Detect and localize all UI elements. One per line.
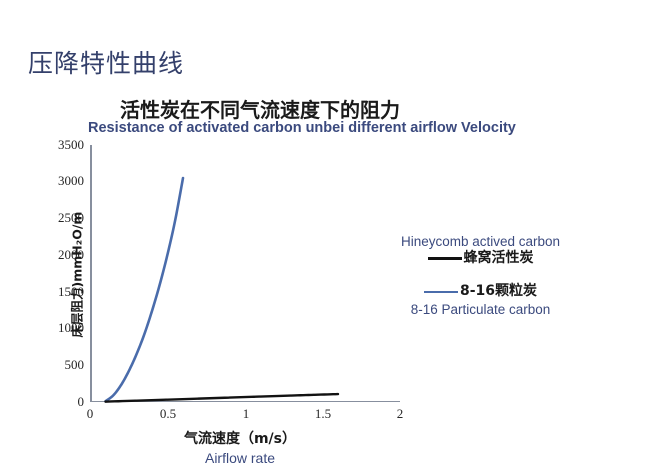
legend-caption-particulate: 8-16 Particulate carbon: [368, 301, 593, 318]
legend-label-particulate: 8-16颗粒炭: [460, 283, 537, 300]
plot-area: [90, 145, 400, 402]
legend-caption-honeycomb: Hineycomb actived carbon: [368, 233, 593, 250]
legend-swatch-blue-line-icon: [424, 291, 458, 293]
chart-title-chinese: 活性炭在不同气流速度下的阻力: [120, 94, 540, 123]
x-tick-0: 0: [87, 406, 94, 422]
chart-legend: Hineycomb actived carbon 蜂窝活性炭 8-16颗粒炭 8…: [368, 233, 593, 328]
x-axis-title-english: Airflow rate: [120, 450, 360, 466]
page-title: 压降特性曲线: [28, 44, 184, 80]
x-axis-title-chinese: 气流速度（m/s）: [120, 428, 360, 448]
series-curves: [90, 145, 400, 402]
legend-item-honeycomb: 蜂窝活性炭: [368, 250, 593, 267]
legend-swatch-black-line-icon: [428, 257, 462, 260]
series-line-particulate-carbon: [106, 178, 184, 401]
x-tick-1: 1: [243, 406, 250, 422]
x-tick-2: 2: [397, 406, 404, 422]
x-tick-0.5: 0.5: [160, 406, 176, 422]
chart-container: 活性炭在不同气流速度下的阻力 Resistance of activated c…: [0, 88, 653, 428]
chart-title-english: Resistance of activated carbon unbei dif…: [88, 120, 558, 136]
legend-label-honeycomb: 蜂窝活性炭: [464, 250, 534, 267]
y-axis-title-holder: 床层阻力)mmH₂O/m: [38, 145, 54, 402]
series-line-honeycomb-carbon: [106, 394, 339, 402]
legend-item-particulate: 8-16颗粒炭: [368, 283, 593, 300]
x-axis-tick-labels: 0 0.5 1 1.5 2: [90, 406, 410, 426]
slide-canvas: 压降特性曲线 活性炭在不同气流速度下的阻力 Resistance of acti…: [0, 0, 653, 448]
x-tick-1.5: 1.5: [315, 406, 331, 422]
y-axis-title: 床层阻力)mmH₂O/m: [67, 195, 86, 355]
